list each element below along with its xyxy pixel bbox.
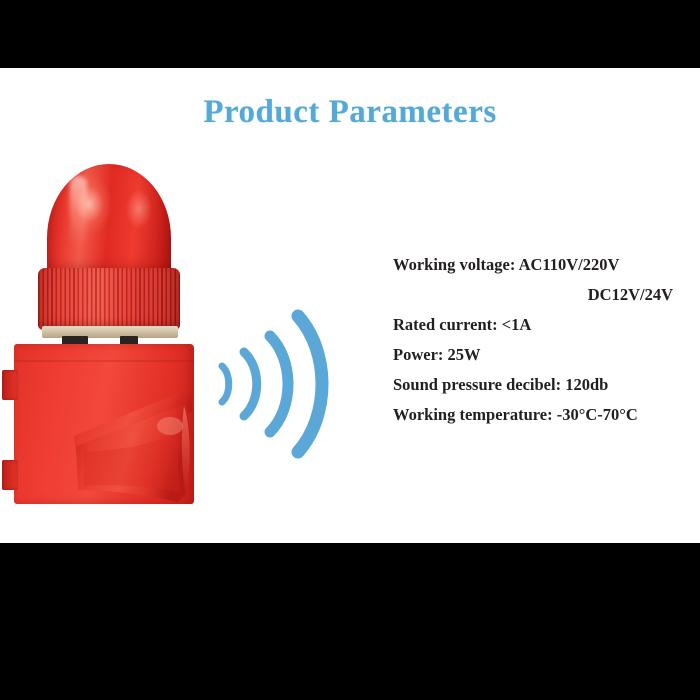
content-canvas: Product Parameters <box>0 68 700 543</box>
beacon-dome <box>47 164 171 276</box>
horn-body-seam <box>14 360 194 362</box>
spec-line-rated-current: Rated current: <1A <box>393 310 673 340</box>
sound-waves <box>218 304 336 464</box>
page-title: Product Parameters <box>0 94 700 131</box>
mounting-tab-bottom <box>2 460 18 490</box>
product-parameters-image: Product Parameters <box>0 0 700 700</box>
product-photo <box>0 164 230 544</box>
mounting-tab-top <box>2 370 18 400</box>
letterbox-bar-top <box>0 0 700 68</box>
spec-list: Working voltage: AC110V/220V DC12V/24V R… <box>393 250 673 430</box>
beacon-ribbed-collar <box>38 268 180 330</box>
beacon-dome-highlight <box>70 176 87 248</box>
horn-trumpet <box>74 390 194 514</box>
spec-line-working-voltage: Working voltage: AC110V/220V <box>393 250 673 280</box>
spec-line-working-voltage-dc: DC12V/24V <box>393 280 673 310</box>
letterbox-bar-bottom <box>0 543 700 700</box>
spec-line-power: Power: 25W <box>393 340 673 370</box>
spec-line-sound-pressure: Sound pressure decibel: 120db <box>393 370 673 400</box>
spec-line-working-temperature: Working temperature: -30°C-70°C <box>393 400 673 430</box>
